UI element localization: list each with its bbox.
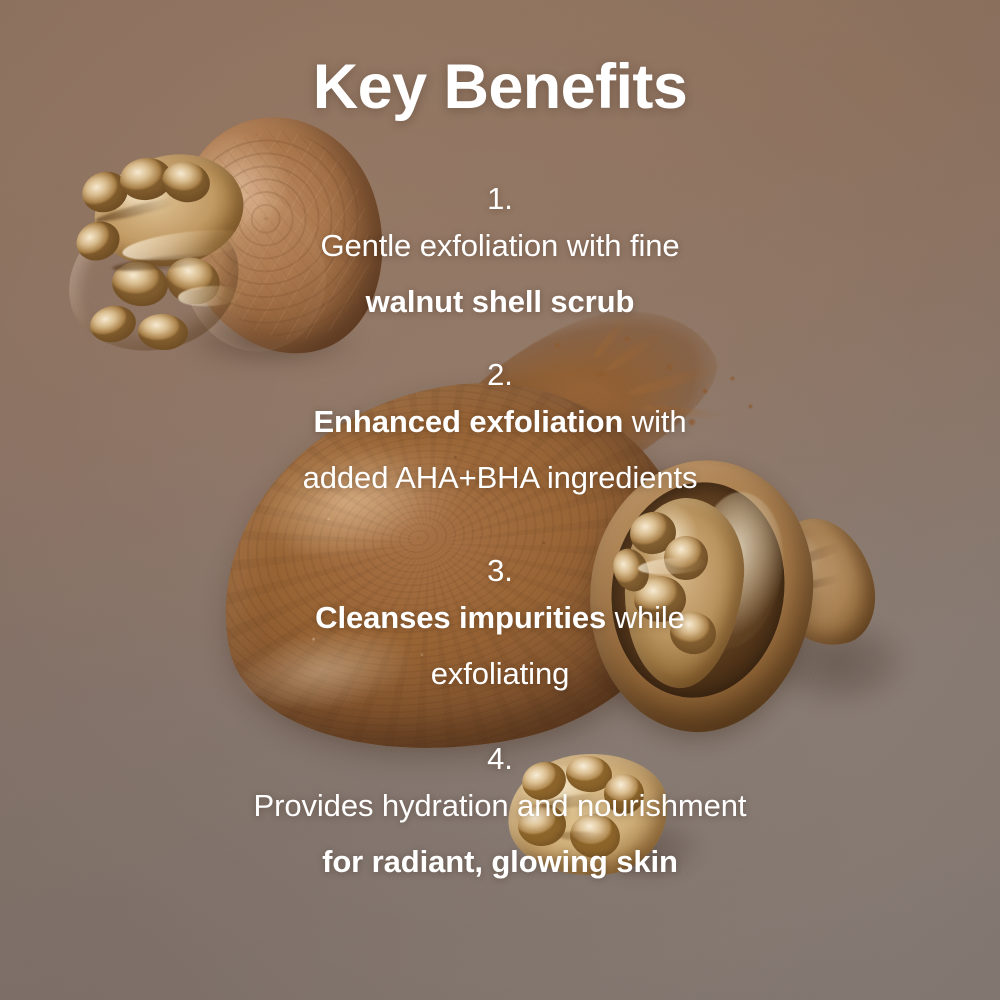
benefit-number-4: 4. <box>0 740 1000 778</box>
benefit-number-1: 1. <box>0 180 1000 218</box>
benefit-line-2-2: added AHA+BHA ingredients <box>0 450 1000 506</box>
benefit-item-2: 2. Enhanced exfoliation with added AHA+B… <box>0 356 1000 507</box>
benefit-line-1-2: walnut shell scrub <box>0 274 1000 330</box>
benefit-line-3-1-bold: Cleanses impurities <box>315 600 606 635</box>
benefit-line-3-1: Cleanses impurities while <box>0 590 1000 646</box>
benefit-line-4-1: Provides hydration and nourishment <box>0 778 1000 834</box>
text-overlay: Key Benefits 1. Gentle exfoliation with … <box>0 0 1000 1000</box>
benefit-item-4: 4. Provides hydration and nourishment fo… <box>0 740 1000 891</box>
page-title: Key Benefits <box>0 56 1000 119</box>
benefit-number-3: 3. <box>0 552 1000 590</box>
benefit-line-2-1-bold: Enhanced exfoliation <box>313 404 623 439</box>
key-benefits-graphic: Key Benefits 1. Gentle exfoliation with … <box>0 0 1000 1000</box>
benefit-line-3-1-rest: while <box>606 600 685 635</box>
benefit-item-3: 3. Cleanses impurities while exfoliating <box>0 552 1000 703</box>
benefit-line-3-2: exfoliating <box>0 646 1000 702</box>
benefit-line-1-1: Gentle exfoliation with fine <box>0 218 1000 274</box>
benefit-number-2: 2. <box>0 356 1000 394</box>
benefit-line-2-1: Enhanced exfoliation with <box>0 394 1000 450</box>
benefit-line-4-2: for radiant, glowing skin <box>0 834 1000 890</box>
benefit-line-2-1-rest: with <box>623 404 686 439</box>
benefit-item-1: 1. Gentle exfoliation with fine walnut s… <box>0 180 1000 331</box>
